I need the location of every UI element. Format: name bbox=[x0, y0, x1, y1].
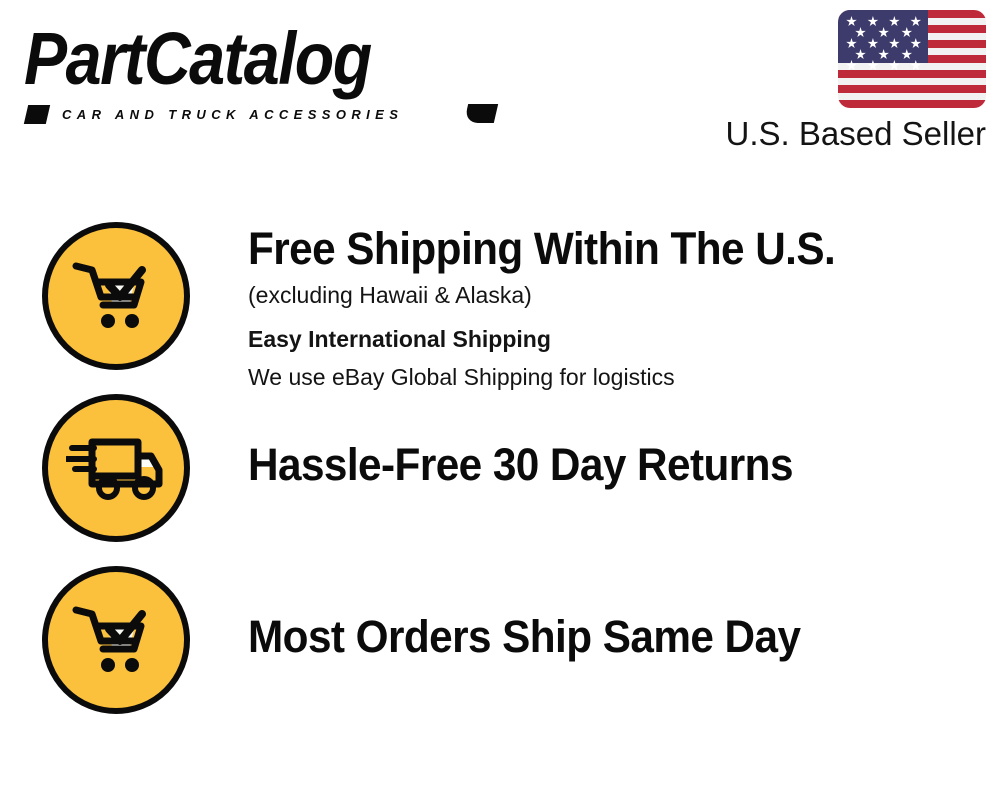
feature-row: Most Orders Ship Same Day bbox=[0, 566, 1000, 738]
logo-slab-right-icon bbox=[464, 104, 498, 123]
brand-wordmark: PartCatalog bbox=[24, 18, 485, 99]
feature-subtext: (excluding Hawaii & Alaska) bbox=[248, 278, 1000, 312]
star-icon bbox=[867, 38, 878, 49]
feature-subtext-secondary: We use eBay Global Shipping for logistic… bbox=[248, 360, 1000, 394]
star-icon bbox=[889, 16, 900, 27]
star-icon bbox=[878, 49, 889, 60]
star-icon bbox=[867, 60, 878, 71]
us-based-seller-label: U.S. Based Seller bbox=[711, 115, 986, 153]
star-icon bbox=[910, 16, 921, 27]
flag-stripe bbox=[838, 70, 986, 78]
feature-subtext-bold: Easy International Shipping bbox=[248, 322, 1000, 356]
logo-slab-left-icon bbox=[24, 105, 50, 124]
feature-row: Free Shipping Within The U.S. (excluding… bbox=[0, 222, 1000, 394]
star-icon bbox=[867, 16, 878, 27]
cart-check-icon bbox=[42, 566, 190, 714]
flag-star-row bbox=[846, 16, 921, 27]
star-icon bbox=[878, 27, 889, 38]
flag-stripe bbox=[838, 85, 986, 93]
us-flag-icon bbox=[838, 10, 986, 108]
delivery-truck-icon bbox=[42, 394, 190, 542]
feature-heading: Most Orders Ship Same Day bbox=[248, 612, 955, 662]
feature-heading: Free Shipping Within The U.S. bbox=[248, 224, 955, 274]
feature-text: Hassle-Free 30 Day Returns bbox=[248, 394, 1000, 490]
promo-banner: PartCatalog CAR AND TRUCK ACCESSORIES bbox=[0, 0, 1000, 800]
star-icon bbox=[846, 16, 857, 27]
feature-list: Free Shipping Within The U.S. (excluding… bbox=[0, 222, 1000, 738]
brand-tagline: CAR AND TRUCK ACCESSORIES bbox=[62, 107, 403, 122]
flag-star-row bbox=[846, 38, 921, 49]
feature-heading: Hassle-Free 30 Day Returns bbox=[248, 440, 955, 490]
feature-row: Hassle-Free 30 Day Returns bbox=[0, 394, 1000, 566]
star-icon bbox=[901, 49, 912, 60]
star-icon bbox=[889, 38, 900, 49]
feature-text: Free Shipping Within The U.S. (excluding… bbox=[248, 222, 1000, 394]
flag-stripe bbox=[838, 78, 986, 86]
star-icon bbox=[889, 60, 900, 71]
star-icon bbox=[910, 38, 921, 49]
cart-check-icon bbox=[42, 222, 190, 370]
flag-star-row bbox=[846, 49, 921, 60]
brand-tagline-row: CAR AND TRUCK ACCESSORIES bbox=[26, 104, 496, 124]
flag-stripe bbox=[838, 100, 986, 108]
flag-star-row bbox=[846, 60, 921, 71]
star-icon bbox=[855, 49, 866, 60]
flag-star-row bbox=[846, 27, 921, 38]
star-icon bbox=[910, 60, 921, 71]
star-icon bbox=[846, 60, 857, 71]
star-icon bbox=[901, 27, 912, 38]
us-based-seller-badge: U.S. Based Seller bbox=[711, 10, 986, 153]
brand-logo: PartCatalog CAR AND TRUCK ACCESSORIES bbox=[24, 18, 494, 118]
flag-star-grid bbox=[846, 16, 921, 57]
star-icon bbox=[846, 38, 857, 49]
flag-canton bbox=[838, 10, 928, 63]
flag-stripe bbox=[838, 93, 986, 101]
star-icon bbox=[855, 27, 866, 38]
feature-text: Most Orders Ship Same Day bbox=[248, 566, 1000, 662]
